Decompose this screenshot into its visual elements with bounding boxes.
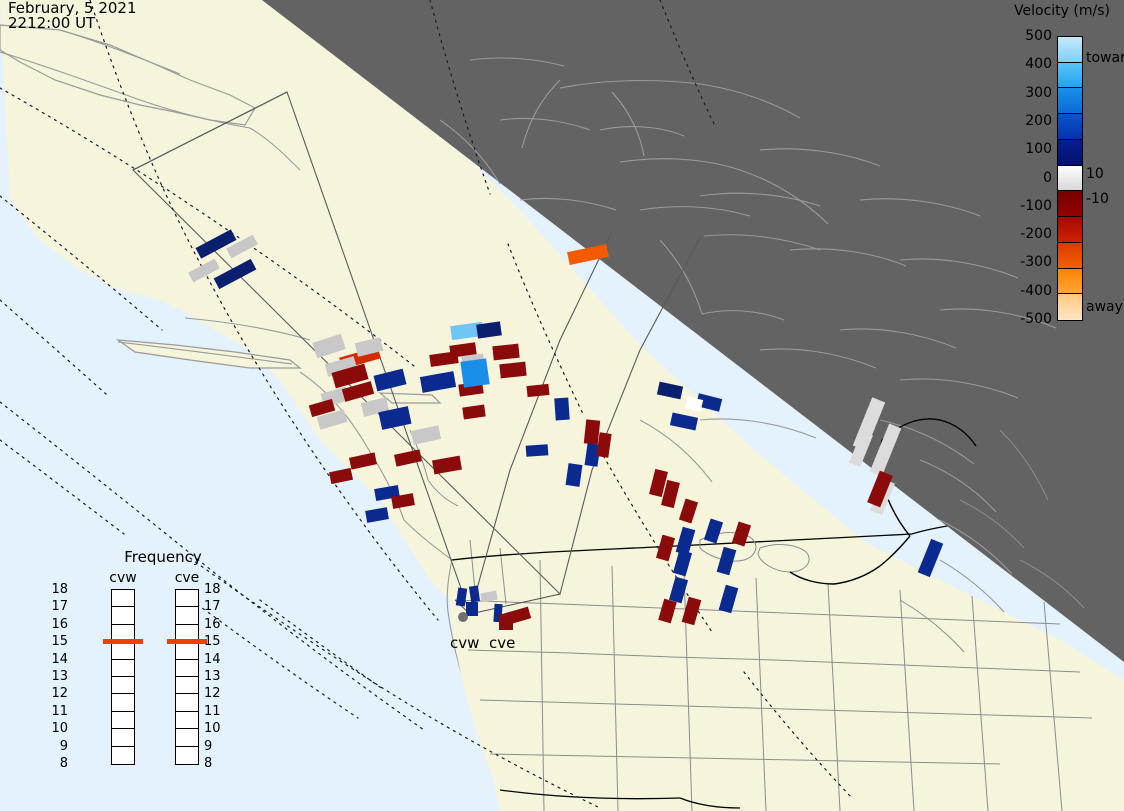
colorbar-band bbox=[1058, 294, 1082, 320]
colorbar-band bbox=[1058, 37, 1082, 63]
frequency-radar-name: cve bbox=[168, 570, 206, 586]
colorbar-title: Velocity (m/s) bbox=[1000, 3, 1124, 19]
site-label-cve: cve bbox=[489, 634, 515, 652]
frequency-tick: 11 bbox=[51, 705, 68, 718]
colorbar-band bbox=[1058, 269, 1082, 295]
colorbar-band bbox=[1058, 166, 1082, 192]
frequency-tick: 16 bbox=[51, 618, 68, 631]
frequency-segment bbox=[112, 712, 134, 729]
colorbar-tick: 400 bbox=[1025, 57, 1052, 71]
colorbar-band bbox=[1058, 243, 1082, 269]
frequency-bar bbox=[175, 589, 199, 765]
frequency-tick: 14 bbox=[204, 653, 221, 666]
colorbar-band bbox=[1058, 217, 1082, 243]
frequency-segment bbox=[112, 642, 134, 659]
colorbar-tick: -200 bbox=[1020, 227, 1052, 241]
frequency-bar bbox=[111, 589, 135, 765]
frequency-tick: 13 bbox=[51, 670, 68, 683]
colorbar-tick: 300 bbox=[1025, 86, 1052, 100]
timestamp-time: 2212:00 UT bbox=[8, 16, 95, 31]
frequency-tick: 16 bbox=[204, 618, 221, 631]
colorbar-tick: 0 bbox=[1043, 171, 1052, 185]
frequency-segment bbox=[176, 712, 198, 729]
frequency-segment bbox=[176, 590, 198, 607]
frequency-segment bbox=[112, 729, 134, 746]
radar-cell bbox=[526, 444, 549, 457]
frequency-tick: 18 bbox=[204, 583, 221, 596]
frequency-tick: 8 bbox=[60, 757, 68, 770]
frequency-segment bbox=[176, 729, 198, 746]
frequency-segment bbox=[112, 607, 134, 624]
frequency-segment bbox=[176, 747, 198, 764]
frequency-tick: 10 bbox=[51, 722, 68, 735]
frequency-segment bbox=[176, 660, 198, 677]
colorbar-away-label: away bbox=[1086, 300, 1123, 314]
colorbar-strip bbox=[1057, 36, 1083, 321]
colorbar-tick: -100 bbox=[1020, 199, 1052, 213]
frequency-tick: 8 bbox=[204, 757, 212, 770]
colorbar-tick: -500 bbox=[1020, 312, 1052, 326]
radar-site-dot bbox=[458, 612, 468, 622]
colorbar-tick: 500 bbox=[1025, 29, 1052, 43]
radar-cell bbox=[499, 362, 526, 379]
colorbar-band bbox=[1058, 191, 1082, 217]
frequency-marker bbox=[103, 639, 143, 644]
frequency-segment bbox=[112, 590, 134, 607]
radar-cell bbox=[460, 358, 489, 387]
radar-cell bbox=[492, 344, 519, 361]
radar-cell bbox=[499, 614, 513, 630]
frequency-segment bbox=[176, 677, 198, 694]
colorbar-tick: 200 bbox=[1025, 114, 1052, 128]
velocity-colorbar: Velocity (m/s) 5004003002001000-100-200-… bbox=[1000, 0, 1124, 340]
colorbar-band bbox=[1058, 88, 1082, 114]
colorbar-pos-threshold-label: 10 bbox=[1086, 167, 1104, 181]
frequency-marker bbox=[167, 639, 207, 644]
frequency-segment bbox=[176, 607, 198, 624]
frequency-segment bbox=[112, 660, 134, 677]
superdarn-fan-plot: February, 5 2021 2212:00 UT Velocity (m/… bbox=[0, 0, 1124, 811]
colorbar-tick: -300 bbox=[1020, 255, 1052, 269]
frequency-tick: 13 bbox=[204, 670, 221, 683]
frequency-tick: 12 bbox=[204, 687, 221, 700]
radar-cell bbox=[526, 384, 549, 397]
frequency-segment bbox=[112, 694, 134, 711]
frequency-radar-name: cvw bbox=[104, 570, 142, 586]
frequency-tick: 15 bbox=[51, 635, 68, 648]
frequency-tick: 9 bbox=[204, 740, 212, 753]
frequency-tick: 10 bbox=[204, 722, 221, 735]
frequency-tick: 9 bbox=[60, 740, 68, 753]
frequency-tick: 17 bbox=[51, 600, 68, 613]
colorbar-toward-label: toward bbox=[1086, 51, 1124, 65]
radar-cell bbox=[554, 398, 570, 421]
colorbar-band bbox=[1058, 140, 1082, 166]
frequency-segment bbox=[176, 642, 198, 659]
colorbar-tick: 100 bbox=[1025, 142, 1052, 156]
frequency-segment bbox=[112, 677, 134, 694]
colorbar-band bbox=[1058, 63, 1082, 89]
frequency-legend-title: Frequency bbox=[88, 548, 238, 566]
frequency-tick: 11 bbox=[204, 705, 221, 718]
frequency-segment bbox=[112, 747, 134, 764]
frequency-tick: 12 bbox=[51, 687, 68, 700]
site-label-cvw: cvw bbox=[450, 634, 479, 652]
frequency-segment bbox=[176, 694, 198, 711]
radar-cell bbox=[466, 602, 478, 616]
colorbar-tick: -400 bbox=[1020, 284, 1052, 298]
frequency-tick: 14 bbox=[51, 653, 68, 666]
radar-cell bbox=[584, 419, 600, 444]
frequency-tick: 17 bbox=[204, 600, 221, 613]
frequency-tick: 18 bbox=[51, 583, 68, 596]
frequency-legend: Frequency cvw18171615141312111098cve1817… bbox=[88, 548, 238, 783]
colorbar-neg-threshold-label: -10 bbox=[1086, 192, 1109, 206]
colorbar-band bbox=[1058, 114, 1082, 140]
